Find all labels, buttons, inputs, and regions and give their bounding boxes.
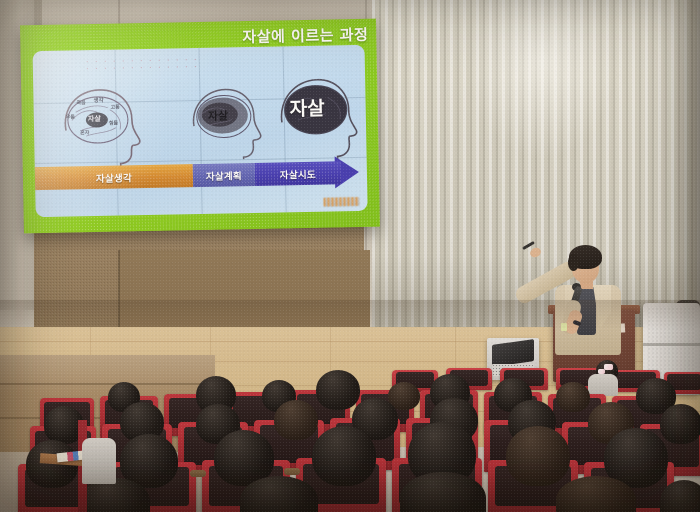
stage-label-2: 자살계획 xyxy=(206,168,242,183)
brain-thought: 고통 xyxy=(111,104,120,111)
brain-thought: 우울 xyxy=(66,113,75,120)
floor-shadow xyxy=(0,300,700,330)
slide-body: 자살 죽음 생각 고통 우울 혼자 힘들 자살 xyxy=(33,45,368,217)
brain-thought: 혼자 xyxy=(80,129,89,136)
brain-thought: 생각 xyxy=(93,96,103,104)
audience-member-body xyxy=(588,374,618,396)
curtain-edge-shadow xyxy=(674,0,700,345)
head-stage-3: 자살 xyxy=(271,71,365,161)
brain-thought: 힘들 xyxy=(109,120,118,127)
organization-logo-icon xyxy=(323,197,359,207)
presenter-hand xyxy=(529,246,543,259)
audience-member-body xyxy=(82,438,116,484)
photo-scene: 자살에 이르는 과정 자살 죽음 생각 고통 우울 혼 xyxy=(0,0,700,512)
stage-label-1: 자살생각 xyxy=(96,170,132,185)
stage-segment-1: 자살생각 xyxy=(35,164,193,190)
head-stage-1: 자살 죽음 생각 고통 우울 혼자 힘들 xyxy=(51,79,153,167)
slide-speckles xyxy=(83,56,203,74)
progression-arrow: 자살생각 자살계획 자살시도 xyxy=(35,161,367,190)
brain-thought: 죽음 xyxy=(76,99,85,106)
stage-label-3: 자살시도 xyxy=(280,166,316,181)
slide-title: 자살에 이르는 과정 xyxy=(242,24,368,47)
presenter-hair-side xyxy=(568,254,579,271)
head-stage-2: 자살 xyxy=(183,81,270,161)
brain-word-main: 자살 xyxy=(289,94,324,122)
stage-segment-3: 자살시도 xyxy=(255,161,341,186)
brain-word-main: 자살 xyxy=(208,107,229,123)
hair-clip-icon xyxy=(598,369,605,374)
hair-clip-icon xyxy=(604,364,613,370)
presenter xyxy=(509,238,639,348)
stage-segment-2: 자살계획 xyxy=(193,163,255,187)
curtain-light-glow xyxy=(467,0,617,160)
arrow-head-icon xyxy=(335,156,360,188)
brain-word-main: 자살 xyxy=(88,114,101,124)
projection-screen[interactable]: 자살에 이르는 과정 자살 죽음 생각 고통 우울 혼 xyxy=(20,19,380,234)
